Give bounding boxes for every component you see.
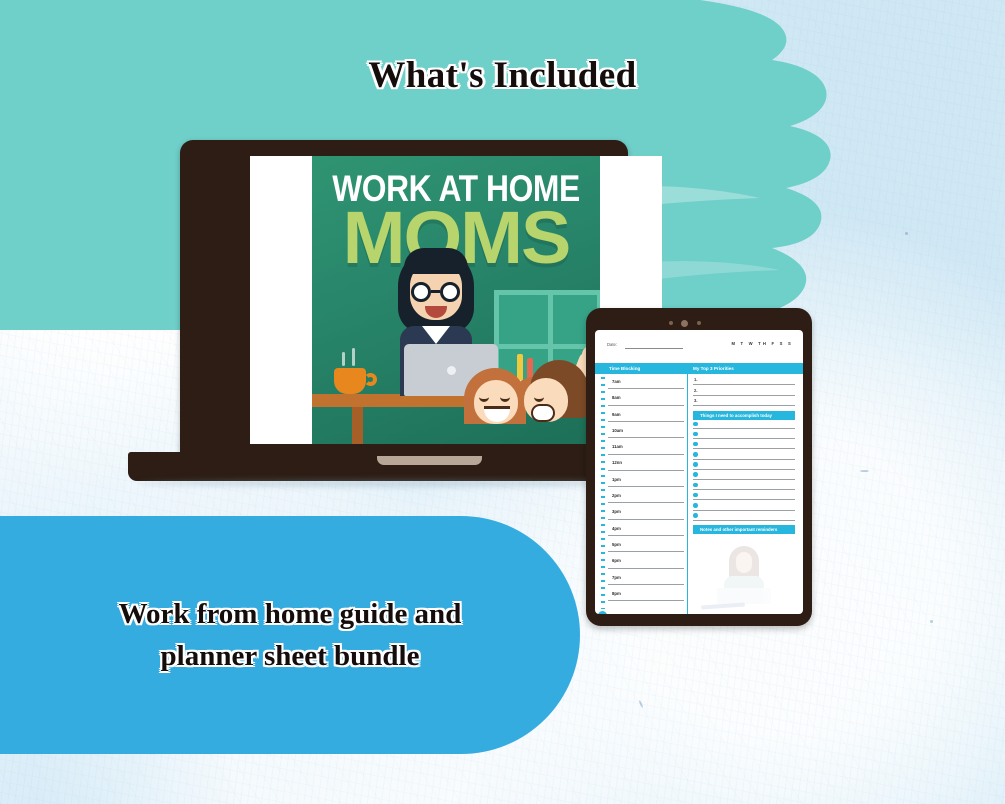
bullet-icon	[693, 442, 698, 447]
page-title: What's Included	[0, 54, 1005, 97]
todo-row[interactable]	[693, 491, 795, 501]
tablet-sensor-icon-2	[697, 321, 701, 325]
child-two-mouth	[531, 404, 555, 422]
time-row[interactable]: 11am	[608, 441, 684, 457]
planner-day-letters[interactable]: M T W TH F S S	[731, 341, 793, 346]
bullet-icon	[693, 503, 698, 508]
desk-leg	[352, 407, 363, 444]
time-row[interactable]: 2pm	[608, 490, 684, 506]
time-row[interactable]: 10am	[608, 425, 684, 441]
time-row[interactable]: 4pm	[608, 523, 684, 539]
poster-canvas: What's Included WORK AT HOME MOMS	[0, 0, 1005, 804]
priority-row[interactable]: 3.	[693, 397, 795, 408]
bullet-icon	[693, 513, 698, 518]
laptop-lid: WORK AT HOME MOMS	[180, 140, 628, 460]
todo-row[interactable]	[693, 461, 795, 471]
bullet-icon	[693, 422, 698, 427]
time-label: 10am	[612, 428, 623, 433]
bullet-icon	[693, 452, 698, 457]
planner-date-label: Date:	[607, 342, 617, 347]
planner-column-headers: Time Blocking My Top 3 Priorities	[595, 363, 803, 374]
time-row[interactable]: 5pm	[608, 539, 684, 555]
todo-row[interactable]	[693, 512, 795, 522]
bullet-icon	[693, 432, 698, 437]
time-row[interactable]: 3pm	[608, 506, 684, 522]
time-label: 4pm	[612, 526, 621, 531]
todo-row[interactable]	[693, 430, 795, 440]
todo-row[interactable]	[693, 451, 795, 461]
priority-number: 1.	[694, 377, 698, 382]
priority-row[interactable]: 1.	[693, 376, 795, 387]
time-label: 1pm	[612, 477, 621, 482]
column-header-priorities: My Top 3 Priorities	[693, 366, 734, 371]
bullet-icon	[693, 472, 698, 477]
time-label: 12nn	[612, 460, 622, 465]
coffee-mug-handle	[364, 373, 377, 386]
glasses-bridge	[431, 290, 440, 293]
laptop-trackpad-notch	[377, 456, 482, 465]
planner-date-input[interactable]	[625, 348, 683, 349]
priority-row[interactable]: 2.	[693, 387, 795, 398]
coffee-mug-icon	[334, 368, 366, 394]
bullet-icon	[693, 493, 698, 498]
notes-watermark-illustration	[695, 544, 793, 610]
notes-section-header: Notes and other important reminders	[693, 525, 795, 535]
todo-row[interactable]	[693, 420, 795, 430]
todo-section-title: Things I need to accomplish today	[700, 413, 772, 418]
time-label: 7am	[612, 379, 621, 384]
time-row[interactable]: 1pm	[608, 474, 684, 490]
ebook-cover-art: WORK AT HOME MOMS	[312, 156, 600, 444]
todo-row[interactable]	[693, 440, 795, 450]
todo-row[interactable]	[693, 471, 795, 481]
time-label: 7pm	[612, 575, 621, 580]
column-header-time-blocking: Time Blocking	[609, 366, 640, 371]
tablet-camera-icon	[681, 320, 688, 327]
bullet-icon	[693, 483, 698, 488]
time-row[interactable]: 9am	[608, 409, 684, 425]
time-row[interactable]: 7pm	[608, 572, 684, 588]
todo-row[interactable]	[693, 481, 795, 491]
priorities-column: 1. 2. 3. Things I need to accomplish tod…	[693, 376, 795, 534]
time-label: 3pm	[612, 509, 621, 514]
planner-sheet: Date: M T W TH F S S Time Blocking My To…	[595, 330, 803, 614]
time-label: 11am	[612, 444, 623, 449]
todo-row[interactable]	[693, 502, 795, 512]
time-blocking-column: 7am 8am 9am 10am 11am 12nn 1pm 2pm 3pm 4…	[608, 376, 684, 604]
time-row[interactable]: 7am	[608, 376, 684, 392]
subtitle-text: Work from home guide and planner sheet b…	[0, 516, 580, 754]
priority-number: 2.	[694, 388, 698, 393]
time-row[interactable]: 6pm	[608, 555, 684, 571]
time-label: 8pm	[612, 591, 621, 596]
subtitle-line-2: planner sheet bundle	[161, 635, 420, 677]
time-label: 6pm	[612, 558, 621, 563]
steam-icon	[342, 352, 345, 366]
mother-fringe	[404, 248, 468, 274]
priority-number: 3.	[694, 398, 698, 403]
todo-section-header: Things I need to accomplish today	[693, 411, 795, 421]
bullet-icon	[693, 462, 698, 467]
tablet-sensor-icon-1	[669, 321, 673, 325]
notes-section-title: Notes and other important reminders	[700, 527, 777, 532]
time-label: 5pm	[612, 542, 621, 547]
planner-corner-dot	[598, 611, 607, 614]
planner-column-divider	[687, 363, 688, 614]
time-row[interactable]: 8pm	[608, 588, 684, 604]
time-row[interactable]: 8am	[608, 392, 684, 408]
spiral-binding-icon	[601, 377, 605, 609]
subtitle-line-1: Work from home guide and	[119, 593, 462, 635]
time-label: 9am	[612, 412, 621, 417]
steam-icon-2	[352, 348, 355, 366]
time-label: 2pm	[612, 493, 621, 498]
glasses-left-lens	[411, 282, 431, 302]
time-row[interactable]: 12nn	[608, 457, 684, 473]
tablet-screen: Date: M T W TH F S S Time Blocking My To…	[595, 330, 803, 614]
time-label: 8am	[612, 395, 621, 400]
tablet-mockup: Date: M T W TH F S S Time Blocking My To…	[586, 308, 812, 626]
glasses-right-lens	[440, 282, 460, 302]
